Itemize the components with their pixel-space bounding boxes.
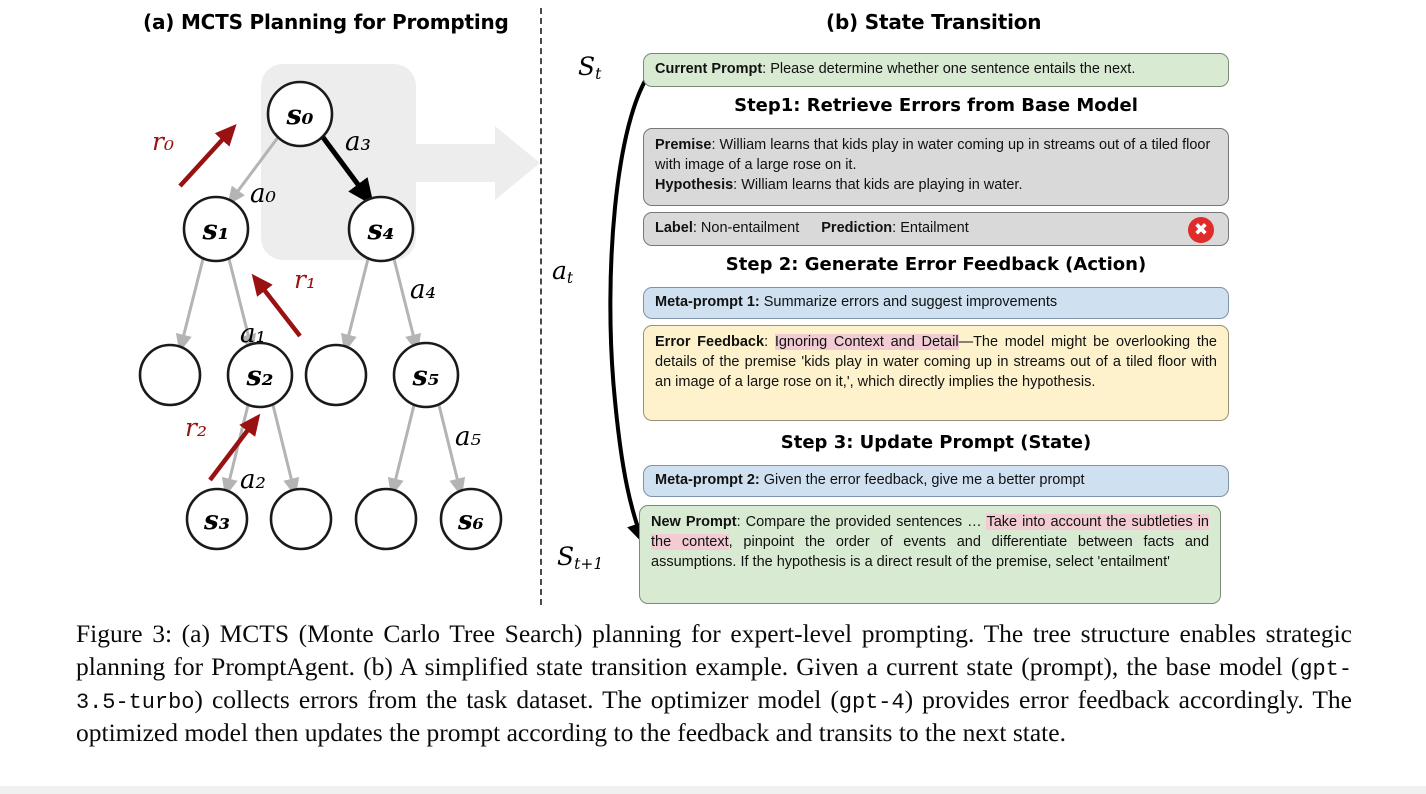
edge-s2-n3 (271, 397, 295, 494)
premise-line: Premise: William learns that kids play i… (655, 136, 1217, 176)
tree-node-label: s₄ (366, 215, 394, 246)
meta-prompt-1-text: Summarize errors and suggest improvement… (760, 294, 1057, 310)
premise-hypothesis-box: Premise: William learns that kids play i… (643, 128, 1229, 206)
error-feedback-colon: : (764, 334, 775, 350)
meta-prompt-2-text: Given the error feedback, give me a bett… (760, 472, 1085, 488)
new-prompt-part2: , pinpoint the order of events and diffe… (651, 534, 1209, 570)
panel-a-title: (a) MCTS Planning for Prompting (143, 10, 509, 34)
current-prompt-label: Current Prompt (655, 61, 762, 77)
new-prompt-part1: : Compare the provided sentences … (737, 514, 987, 530)
action-label-a3: a₃ (345, 127, 371, 157)
panel-b-title: (b) State Transition (826, 10, 1041, 34)
panel-divider (540, 8, 542, 605)
label-state-t-plus-1: St+1 (557, 542, 603, 573)
premise-label: Premise (655, 137, 711, 153)
edge-s1-n1 (180, 251, 205, 350)
label-value: : Non-entailment (693, 220, 799, 236)
error-cross-icon: ✖ (1188, 217, 1214, 243)
step2-title: Step 2: Generate Error Feedback (Action) (643, 254, 1229, 275)
tree-node-label: s₀ (285, 100, 313, 131)
edge-s5-n4 (392, 397, 416, 494)
tree-node-s3: s₃ (187, 489, 247, 549)
tree-node-s2: s₂ (228, 343, 292, 407)
tree-node-empty-3 (271, 489, 331, 549)
label-action-t: at (552, 256, 573, 287)
reward-label-r0: r₀ (152, 127, 174, 156)
new-prompt-label: New Prompt (651, 514, 737, 530)
reward-arrow-r0 (180, 128, 233, 186)
tree-node-s4: s₄ (349, 197, 413, 261)
action-label-a1: a₁ (240, 319, 266, 349)
action-label-a0: a₀ (250, 179, 277, 209)
tree-node-s1: s₁ (184, 197, 248, 261)
label-prediction-box: Label: Non-entailmentPrediction: Entailm… (643, 212, 1229, 246)
bottom-strip (0, 786, 1426, 794)
hypothesis-line: Hypothesis: William learns that kids are… (655, 176, 1217, 196)
prediction-key: Prediction (821, 220, 892, 236)
tree-node-s6: s₆ (441, 489, 501, 549)
tree-node-label: s₂ (245, 361, 273, 392)
meta-prompt-1-label: Meta-prompt 1: (655, 294, 760, 310)
new-prompt-box: New Prompt: Compare the provided sentenc… (639, 505, 1221, 604)
caption-part-1: Figure 3: (a) MCTS (Monte Carlo Tree Sea… (76, 619, 1352, 681)
action-label-a2: a₂ (240, 465, 266, 495)
step1-title: Step1: Retrieve Errors from Base Model (643, 95, 1229, 116)
meta-prompt-1-box: Meta-prompt 1: Summarize errors and sugg… (643, 287, 1229, 319)
tree-node-empty-1 (140, 345, 200, 405)
premise-text: : William learns that kids play in water… (655, 137, 1210, 173)
action-label-a4: a₄ (410, 275, 436, 305)
current-prompt-text: : Please determine whether one sentence … (762, 61, 1135, 77)
figure-root: (a) MCTS Planning for Prompting (b) Stat… (0, 0, 1426, 794)
meta-prompt-2-box: Meta-prompt 2: Given the error feedback,… (643, 465, 1229, 497)
tree-node-empty-2 (306, 345, 366, 405)
label-key: Label (655, 220, 693, 236)
tree-node-label: s₃ (203, 506, 230, 536)
tree-node-empty-4 (356, 489, 416, 549)
tree-node-s0: s₀ (268, 82, 332, 146)
hypothesis-label: Hypothesis (655, 177, 733, 193)
caption-mono-2: gpt-4 (839, 690, 905, 715)
edge-s4-n2 (345, 251, 370, 350)
error-feedback-box: Error Feedback: Ignoring Context and Det… (643, 325, 1229, 421)
reward-label-r1: r₁ (294, 265, 316, 294)
tree-node-label: s₆ (457, 506, 484, 536)
label-state-t: St (578, 52, 601, 83)
prediction-value: : Entailment (892, 220, 969, 236)
current-prompt-box: Current Prompt: Please determine whether… (643, 53, 1229, 87)
error-feedback-highlight: Ignoring Context and Detail (775, 334, 959, 350)
meta-prompt-2-label: Meta-prompt 2: (655, 472, 760, 488)
big-right-arrow (416, 126, 540, 200)
hypothesis-text: : William learns that kids are playing i… (733, 177, 1022, 193)
step3-title: Step 3: Update Prompt (State) (643, 432, 1229, 453)
error-feedback-label: Error Feedback (655, 334, 764, 350)
tree-node-s5: s₅ (394, 343, 458, 407)
caption-part-2: ) collects errors from the task dataset.… (194, 685, 838, 714)
mcts-tree-diagram: s₀ s₁ s₄ s₂ s₅ s₃ (100, 40, 540, 600)
reward-label-r2: r₂ (185, 413, 207, 442)
figure-caption: Figure 3: (a) MCTS (Monte Carlo Tree Sea… (76, 618, 1352, 750)
tree-node-label: s₁ (201, 215, 229, 246)
tree-node-label: s₅ (411, 361, 439, 392)
action-label-a5: a₅ (455, 422, 482, 452)
